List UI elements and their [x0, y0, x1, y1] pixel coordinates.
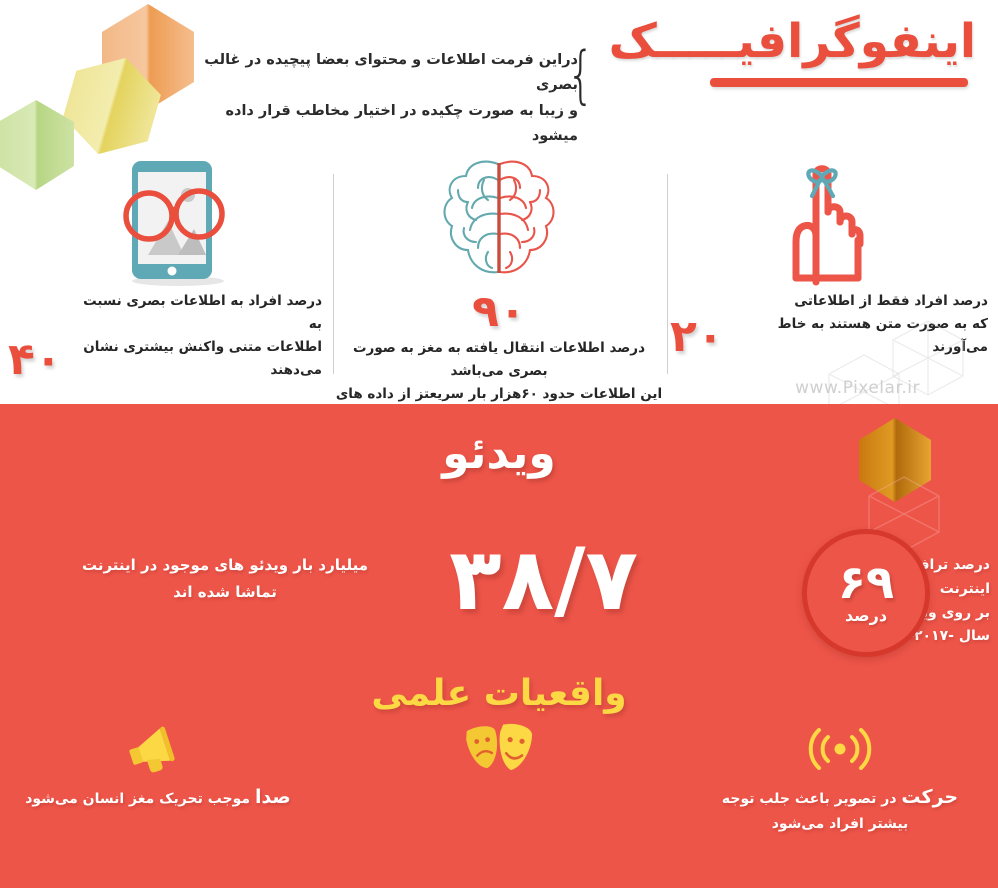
header-subtitle-line-2: و زیبا به صورت چکیده در اختیار مخاطب قرا…	[198, 99, 578, 150]
stat-number-1: ۴۰	[8, 338, 62, 382]
fact-card-sound: صدا موجب تحریک مغز انسان می‌شود	[8, 722, 308, 813]
brain-icon	[334, 150, 664, 290]
stat-line-1-1: درصد افراد به اطلاعات بصری نسبت به	[83, 293, 322, 332]
title-underline	[710, 78, 968, 87]
fact-line-motion-2: بیشتر افراد می‌شود	[772, 816, 909, 832]
percentage-badge: ۶۹ درصد	[802, 529, 930, 657]
fact-card-motion: حرکت در تصویر باعث جلب توجه بیشتر افراد …	[690, 722, 990, 836]
stat-line-2-2: این اطلاعات حدود ۶۰هزار بار سریعتز از دا…	[336, 386, 662, 404]
stat-number-3: ۲۰	[670, 315, 724, 359]
stat-row-1: درصد افراد به اطلاعات بصری نسبت به اطلاع…	[8, 290, 326, 382]
video-left-caption: میلیارد بار ویدئو های موجود در اینترنت ت…	[60, 552, 390, 606]
stat-card-visual-reaction: درصد افراد به اطلاعات بصری نسبت به اطلاع…	[8, 150, 326, 382]
fact-line-motion-1: در تصویر باعث جلب توجه	[722, 791, 902, 807]
stat-block-2: ۹۰ درصد اطلاعات انتقال یافته به مغز به ص…	[334, 290, 664, 404]
stat-text-1: درصد افراد به اطلاعات بصری نسبت به اطلاع…	[68, 290, 322, 382]
stat-line-1-2: اطلاعات متنی واکنش بیشتری نشان می‌دهند	[83, 339, 322, 378]
badge-unit: درصد	[845, 606, 887, 625]
stat-number-2: ۹۰	[472, 290, 526, 334]
fact-text-sound: صدا موجب تحریک مغز انسان می‌شود	[8, 782, 308, 813]
watermark: www.Pixelar.ir	[795, 378, 920, 398]
header-subtitle: دراین فرمت اطلاعات و محتوای بعضا پیچیده …	[198, 48, 578, 150]
video-big-number: ۳۸/۷	[449, 537, 638, 623]
facts-section-title: واقعیات علمی	[0, 676, 998, 712]
top-section: اینفوگرافیـــــک } دراین فرمت اطلاعات و …	[0, 0, 998, 404]
stat-line-3-1: درصد افراد فقط از اطلاعاتی	[794, 293, 988, 309]
badge-number: ۶۹	[838, 561, 894, 605]
fact-line-sound-1: موجب تحریک مغز انسان می‌شود	[25, 791, 255, 807]
stat-card-brain-visual: ۹۰ درصد اطلاعات انتقال یافته به مغز به ص…	[334, 150, 664, 404]
column-divider-2	[667, 174, 668, 374]
fact-text-motion: حرکت در تصویر باعث جلب توجه بیشتر افراد …	[690, 782, 990, 836]
motion-waves-icon	[690, 722, 990, 774]
infographic-canvas: اینفوگرافیـــــک } دراین فرمت اطلاعات و …	[0, 0, 998, 888]
fact-lead-motion: حرکت	[901, 786, 958, 808]
stat-text-2: درصد اطلاعات انتقال یافته به مغز به صورت…	[334, 337, 664, 404]
video-section: ویدئو میلیارد بار ویدئو های موجود در این…	[0, 404, 998, 888]
hand-ribbon-icon	[670, 150, 988, 290]
phone-glasses-icon	[8, 150, 326, 290]
fact-lead-sound: صدا	[255, 786, 291, 808]
video-section-title: ویدئو	[0, 432, 998, 476]
stat-line-2-1: درصد اطلاعات انتقال یافته به مغز به صورت…	[353, 340, 645, 379]
megaphone-icon	[8, 722, 308, 774]
page-title-wrap: اینفوگرافیـــــک	[609, 18, 976, 65]
page-title: اینفوگرافیـــــک	[609, 18, 976, 65]
header-subtitle-line-1: دراین فرمت اطلاعات و محتوای بعضا پیچیده …	[198, 48, 578, 99]
